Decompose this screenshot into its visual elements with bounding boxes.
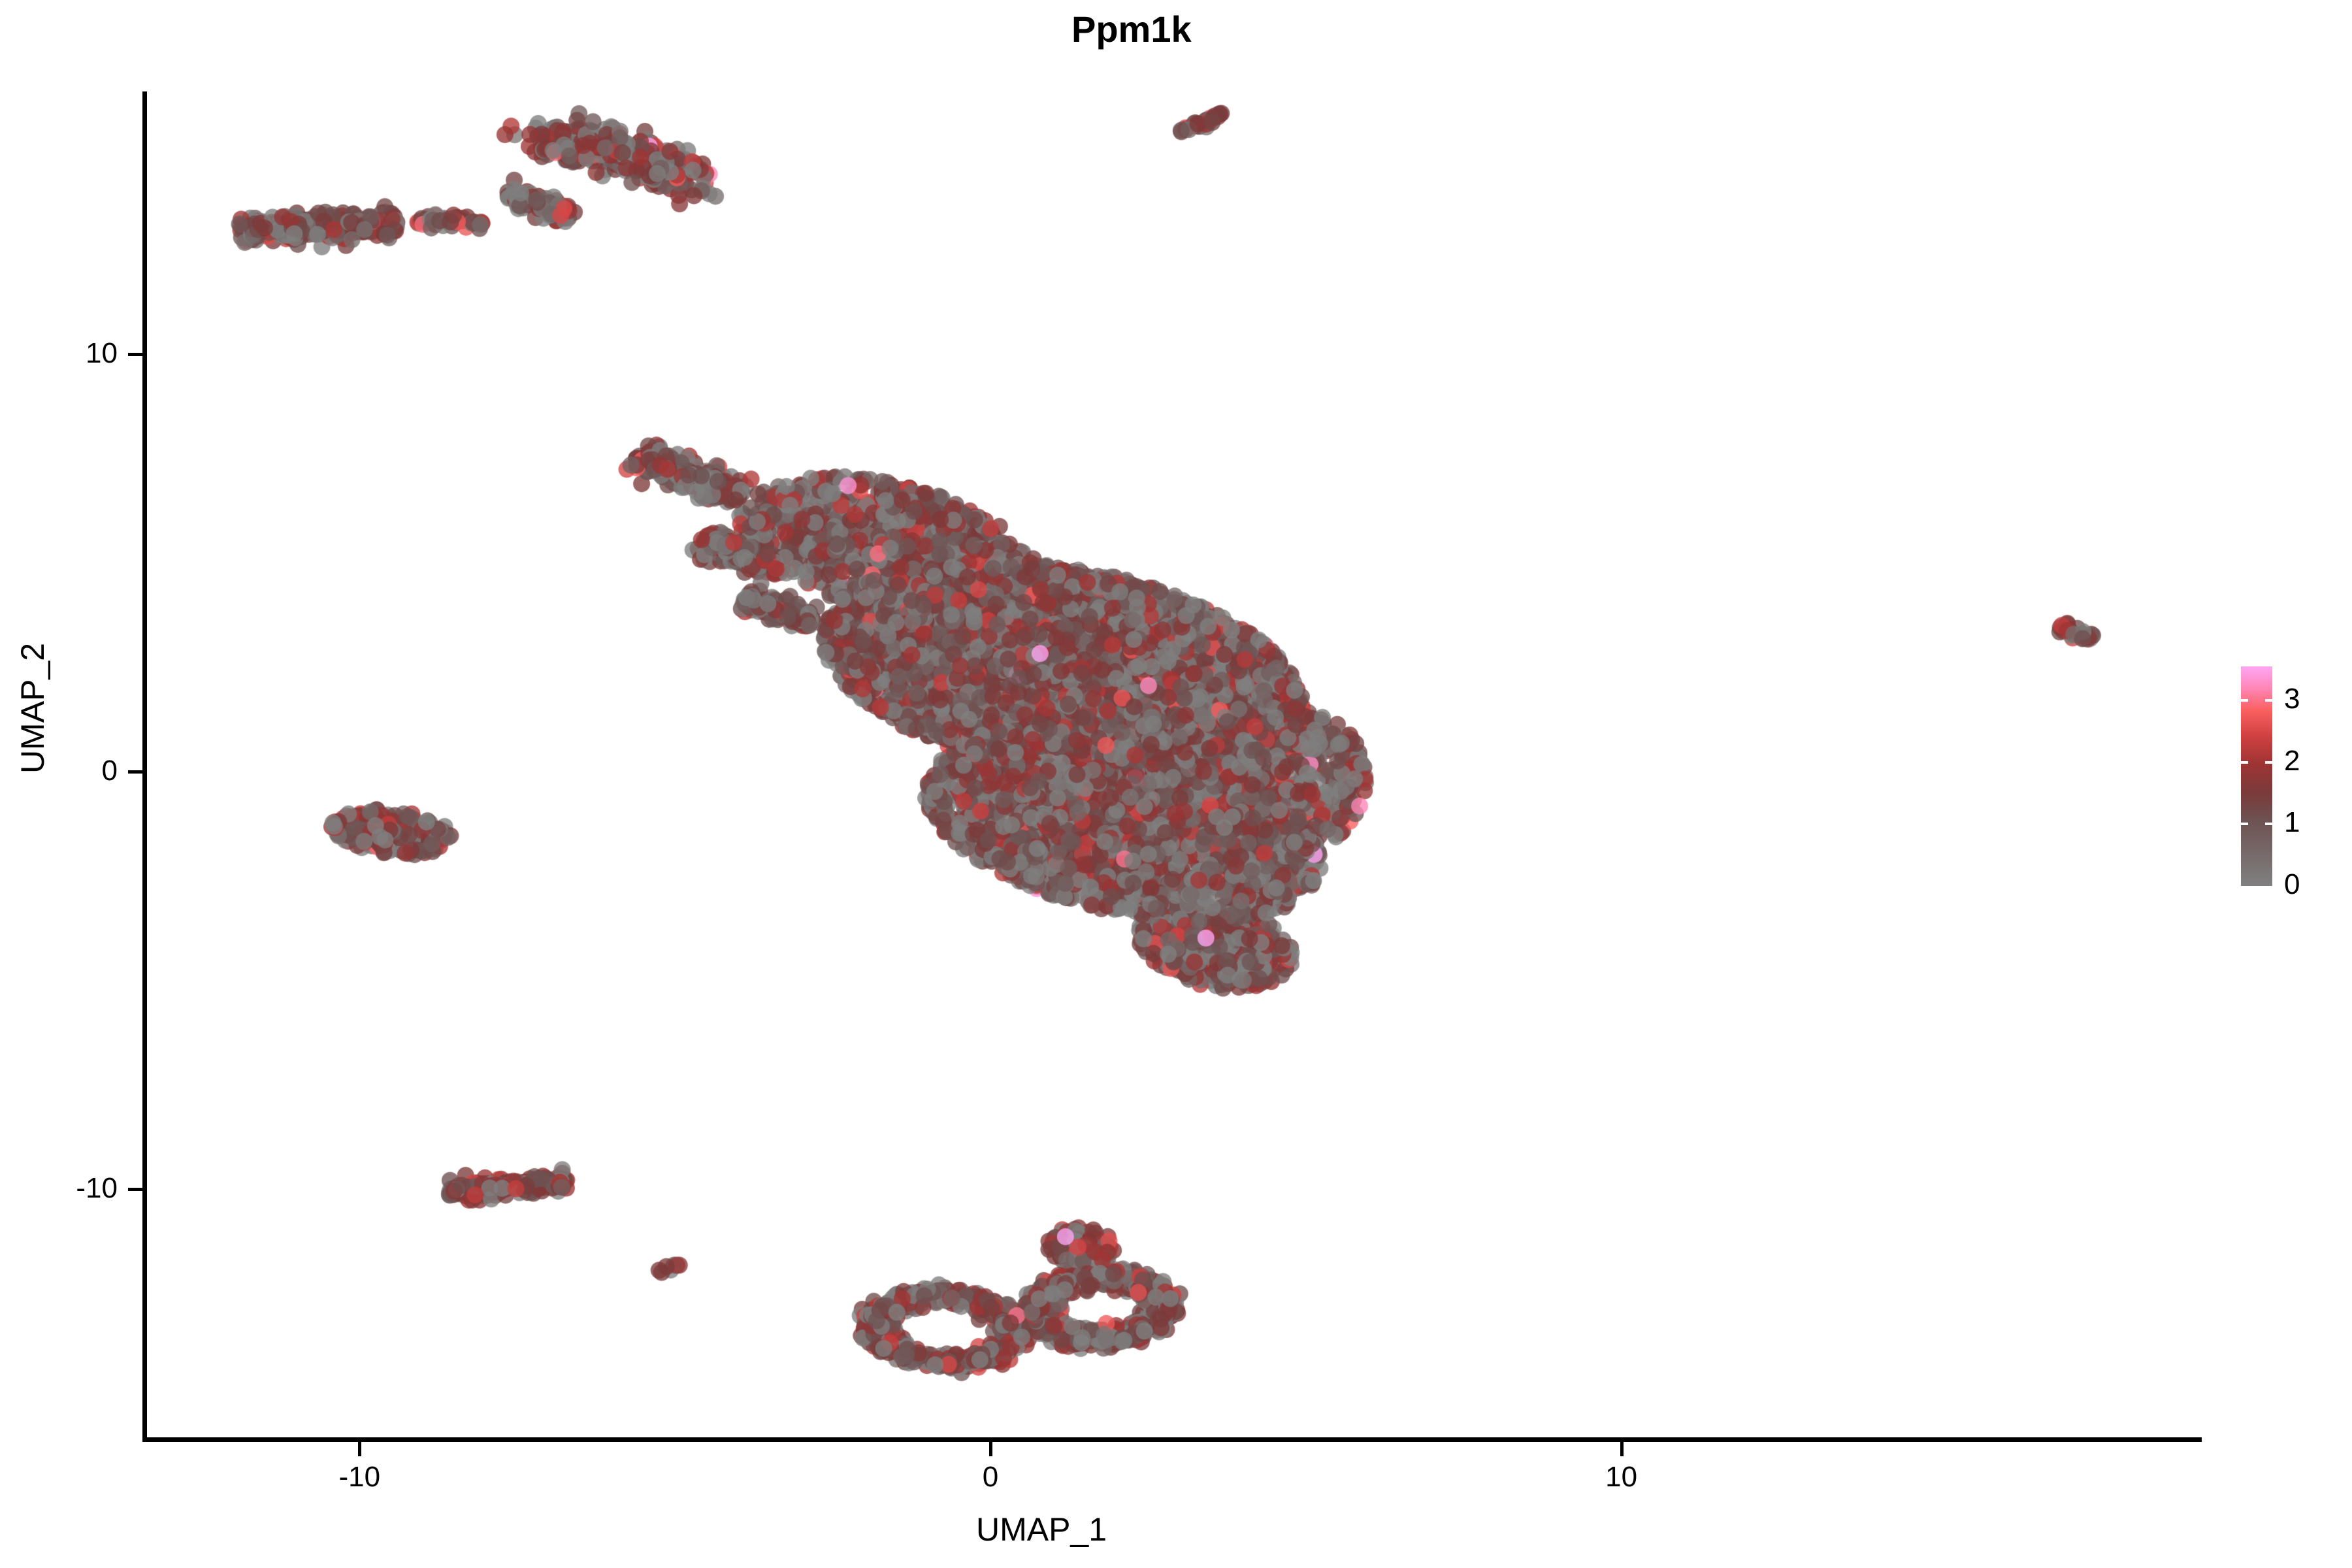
legend-tick	[2241, 699, 2248, 702]
x-axis-title: UMAP_1	[976, 1511, 1107, 1548]
legend-label: 3	[2284, 685, 2300, 713]
legend-tick	[2265, 823, 2272, 825]
x-axis-line	[142, 1437, 2202, 1442]
legend-label: 2	[2284, 747, 2300, 776]
page-title: Ppm1k	[1071, 8, 1192, 50]
legend-tick	[2265, 699, 2272, 702]
x-tick-label: 0	[925, 1461, 1056, 1494]
x-tick-label: 10	[1556, 1461, 1687, 1494]
legend-tick	[2241, 823, 2248, 825]
x-tick-mark	[1620, 1442, 1624, 1456]
color-legend: 3210	[2241, 666, 2339, 902]
y-tick-mark	[128, 1188, 142, 1191]
y-tick-label: 10	[13, 337, 118, 370]
legend-tick	[2241, 761, 2248, 764]
legend-tick	[2265, 761, 2272, 764]
umap-feature-plot: Ppm1k -10010100-10 UMAP_1 UMAP_2 3210	[0, 0, 2352, 1568]
legend-label: 1	[2284, 808, 2300, 837]
legend-label: 0	[2284, 870, 2300, 899]
x-tick-mark	[358, 1442, 361, 1456]
y-tick-label: -10	[13, 1172, 118, 1205]
x-tick-mark	[989, 1442, 992, 1456]
y-tick-mark	[128, 770, 142, 774]
plot-panel	[145, 91, 2202, 1439]
y-axis-title: UMAP_2	[14, 578, 52, 839]
y-tick-mark	[128, 353, 142, 356]
y-axis-line	[142, 91, 147, 1441]
x-tick-label: -10	[294, 1461, 425, 1494]
scatter-canvas	[145, 91, 2202, 1439]
